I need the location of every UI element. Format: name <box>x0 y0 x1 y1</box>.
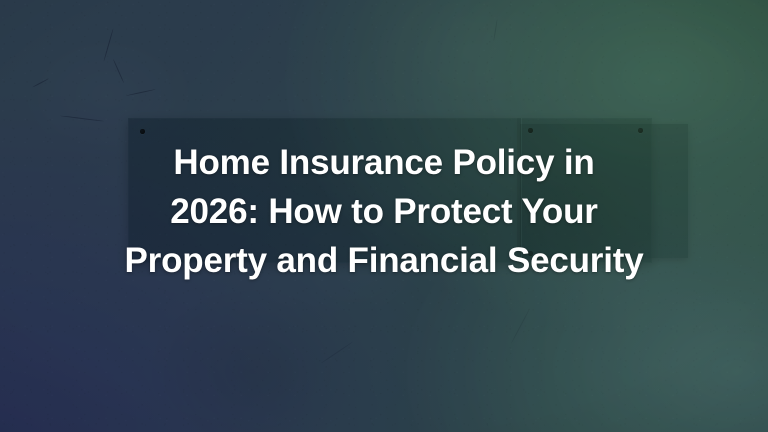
article-hero-banner: Home Insurance Policy in 2026: How to Pr… <box>0 0 768 432</box>
banner-headline: Home Insurance Policy in 2026: How to Pr… <box>0 138 768 285</box>
